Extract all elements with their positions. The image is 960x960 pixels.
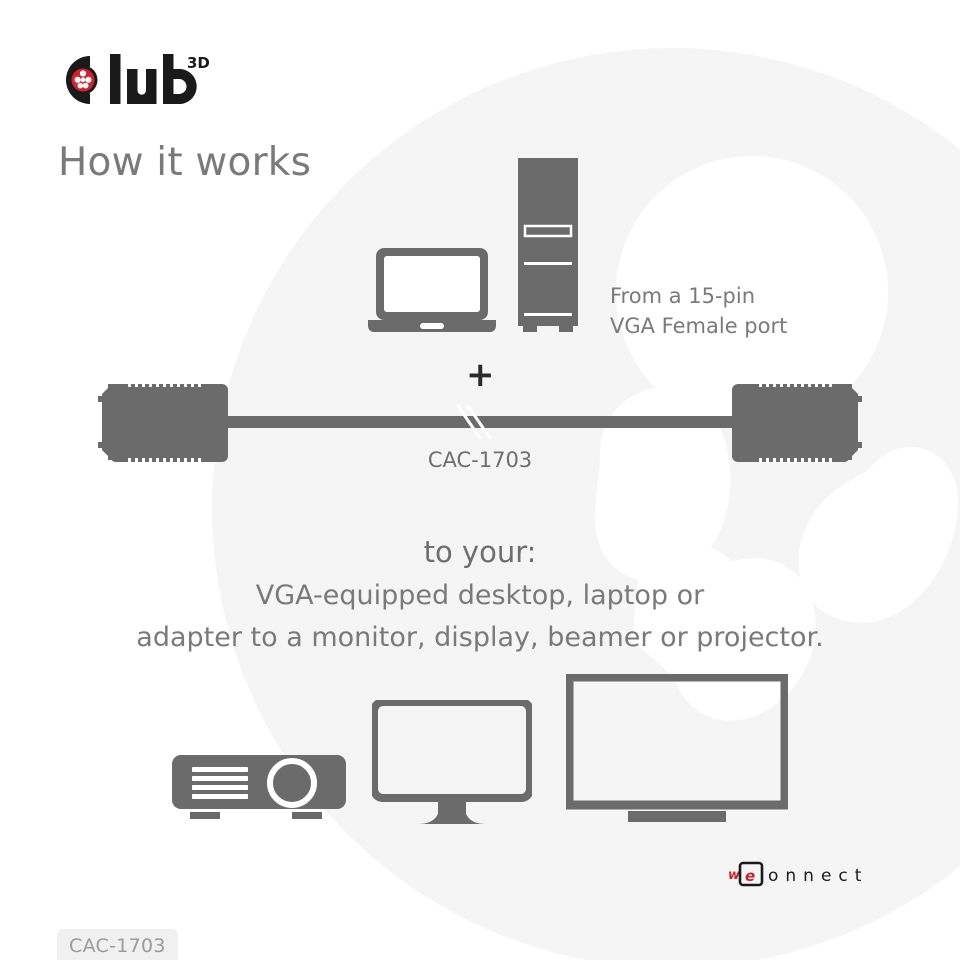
- projector-icon: [172, 755, 346, 823]
- svg-text:onnect: onnect: [768, 866, 868, 886]
- cable-model-label: CAC-1703: [0, 448, 960, 472]
- club3d-logo: 3D: [59, 52, 209, 110]
- desktop-tower-icon: [512, 158, 584, 336]
- monitor-icon: [372, 700, 532, 826]
- svg-text:e: e: [745, 867, 755, 885]
- laptop-icon: [368, 246, 496, 336]
- tv-icon: [566, 674, 788, 826]
- target-line-2: adapter to a monitor, display, beamer or…: [0, 622, 960, 653]
- source-caption: From a 15-pin VGA Female port: [610, 281, 787, 341]
- infographic-page: 3D How it works From a 15-pin VGA Female…: [0, 0, 960, 960]
- source-caption-line-1: From a 15-pin: [610, 281, 787, 311]
- svg-text:3D: 3D: [187, 54, 209, 72]
- page-title: How it works: [58, 140, 311, 185]
- weconnect-logo: w e onnect: [728, 857, 940, 891]
- sku-badge: CAC-1703: [57, 929, 178, 960]
- target-heading: to your:: [0, 535, 960, 569]
- target-line-1: VGA-equipped desktop, laptop or: [0, 580, 960, 611]
- source-caption-line-2: VGA Female port: [610, 311, 787, 341]
